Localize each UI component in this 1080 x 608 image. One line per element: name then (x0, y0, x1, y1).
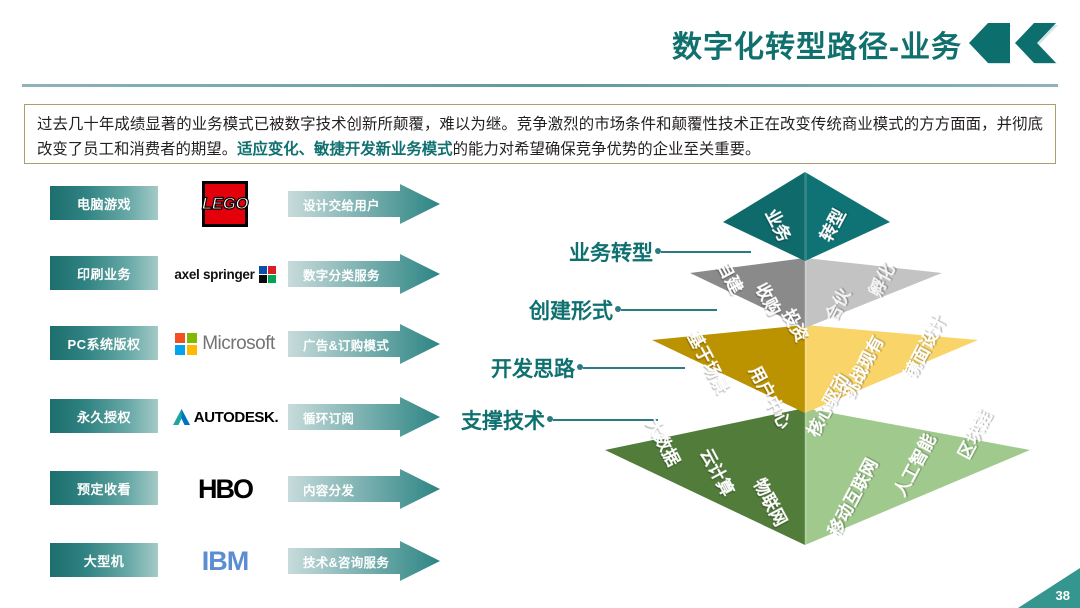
from-label: 大型机 (50, 543, 158, 577)
from-label: 永久授权 (50, 399, 158, 433)
page-title: 数字化转型路径-业务 (672, 22, 962, 66)
lego-icon: LEGO (202, 181, 248, 227)
microsoft-squares (175, 333, 197, 355)
from-label: 预定收看 (50, 471, 158, 505)
intro-line2-b: 的能力对希望确保竞争优势的企业至关重要。 (453, 141, 761, 158)
axel-springer-icon: axel springer (174, 266, 275, 283)
page-number: 38 (1056, 588, 1070, 603)
from-label: 电脑游戏 (50, 186, 158, 220)
double-chevron-left-icon (966, 22, 1062, 64)
brand-logo-ibm: IBM (162, 537, 288, 585)
to-label: 技术&咨询服务 (296, 543, 416, 579)
brand-logo-microsoft: Microsoft (162, 320, 288, 368)
to-label: 循环订阅 (296, 399, 416, 435)
to-label: 设计交给用户 (296, 186, 416, 222)
transition-row: PC系统版权 Microsoft 广告&订购模式 (0, 326, 470, 370)
brand-logo-axel-springer: axel springer (162, 250, 288, 298)
intro-text: 过去几十年成绩显著的业务模式已被数字技术创新所颠覆，难以为继。竞争激烈的市场条件… (37, 112, 1043, 162)
microsoft-icon: Microsoft (175, 333, 275, 355)
transition-row: 永久授权 AUTODESK. 循环订阅 (0, 399, 470, 443)
autodesk-icon: AUTODESK. (172, 408, 278, 427)
lego-wordmark: LEGO (202, 194, 248, 214)
hbo-wordmark: HBO (198, 474, 252, 505)
intro-textbox: 过去几十年成绩显著的业务模式已被数字技术创新所颠覆，难以为继。竞争激烈的市场条件… (24, 104, 1056, 164)
brand-logo-lego: LEGO (162, 180, 288, 228)
autodesk-mark-icon (172, 408, 191, 427)
slide-header: 数字化转型路径-业务 (0, 0, 1080, 88)
to-label: 内容分发 (296, 471, 416, 507)
brand-logo-hbo: HBO (162, 465, 288, 513)
axel-springer-wordmark: axel springer (174, 267, 254, 282)
to-label: 数字分类服务 (296, 256, 416, 292)
from-label: 印刷业务 (50, 256, 158, 290)
to-label: 广告&订购模式 (296, 326, 416, 362)
autodesk-wordmark: AUTODESK. (194, 409, 278, 426)
intro-line1: 过去几十年成绩显著的业务模式已被数字技术创新所颠覆，难以为继。竞争激烈的市场条件… (37, 116, 904, 133)
slide: 数字化转型路径-业务 过去几十年成绩显著的业务模式已被数字技术创新所颠覆，难以为… (0, 0, 1080, 608)
intro-highlight: 适应变化、敏捷开发新业务模式 (237, 141, 452, 158)
ibm-wordmark: IBM (202, 546, 249, 577)
from-label: PC系统版权 (50, 326, 158, 360)
transition-row: 电脑游戏 LEGO 设计交给用户 (0, 186, 470, 230)
axel-springer-squares (259, 266, 276, 283)
pyramid-diagram: 业务 转型 自建 收购 投资 合伙 孵化 基于场景 用户中心 挑战现有 镜面设计… (560, 160, 1060, 560)
corner-triangle (1018, 568, 1080, 608)
transition-row: 预定收看 HBO 内容分发 (0, 471, 470, 515)
microsoft-wordmark: Microsoft (202, 333, 275, 355)
pyramid-label-tier4: 支撑技术 (440, 405, 545, 435)
header-divider (22, 84, 1058, 87)
transition-row: 印刷业务 axel springer 数字分类服务 (0, 256, 470, 300)
brand-logo-autodesk: AUTODESK. (162, 393, 288, 441)
transition-row: 大型机 IBM 技术&咨询服务 (0, 543, 470, 587)
